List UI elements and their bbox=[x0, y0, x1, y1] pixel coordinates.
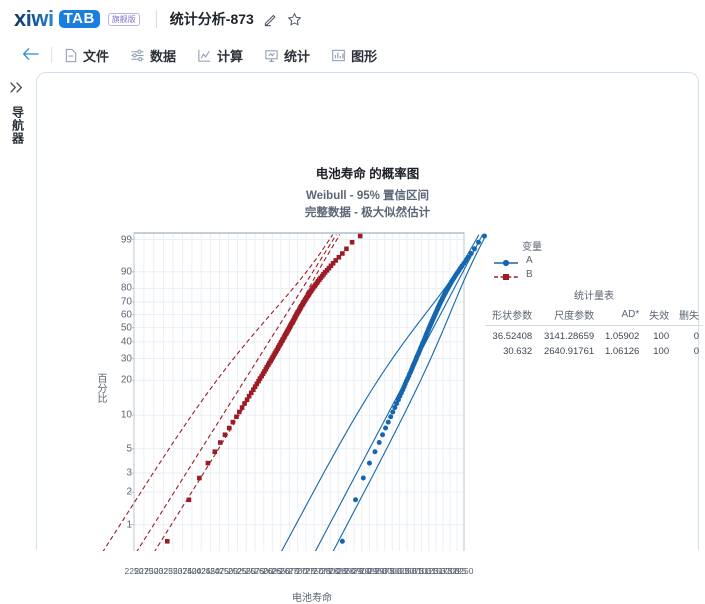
table-column-header: AD* bbox=[598, 306, 643, 326]
probability-plot: 电池寿命 的概率图 Weibull - 95% 置信区间 完整数据 - 极大似然… bbox=[37, 73, 698, 550]
legend-entry-b: B bbox=[492, 267, 542, 281]
menu-item-label: 数据 bbox=[150, 46, 176, 65]
menu-item-statistics[interactable]: 统计 bbox=[264, 46, 310, 65]
chevron-double-right-icon[interactable] bbox=[8, 80, 26, 98]
menu-item-label: 统计 bbox=[284, 46, 310, 65]
table-column-header: 删失 bbox=[673, 306, 703, 326]
statistics-table-block: 统计量表 形状参数尺度参数AD*失效删失 36.524083141.286591… bbox=[485, 287, 705, 359]
logo-tab-badge: TAB bbox=[59, 10, 100, 28]
data-sliders-icon bbox=[130, 48, 145, 63]
menu-item-calculate[interactable]: 计算 bbox=[197, 46, 243, 65]
star-icon[interactable] bbox=[287, 12, 302, 27]
table-column-header: 尺度参数 bbox=[536, 306, 598, 326]
document-title: 统计分析-873 bbox=[170, 9, 254, 29]
table-row: 30.6322640.917611.061261000 bbox=[485, 344, 703, 359]
navigator-label: 导航器 bbox=[11, 106, 24, 145]
navigator-rail: 导航器 bbox=[0, 72, 34, 550]
menu-bar: 文件 数据 计算 统计 图形 bbox=[0, 38, 705, 72]
x-axis-label: 电池寿命 bbox=[157, 589, 467, 604]
file-icon bbox=[64, 48, 78, 63]
pencil-icon[interactable] bbox=[263, 12, 278, 27]
statistics-icon bbox=[264, 48, 279, 63]
app-logo[interactable]: xiwi TAB 旗舰版 bbox=[14, 6, 140, 32]
table-cell: 100 bbox=[643, 344, 673, 359]
menu-item-label: 计算 bbox=[217, 46, 243, 65]
table-column-header: 形状参数 bbox=[485, 306, 536, 326]
legend-label-b: B bbox=[526, 269, 533, 280]
table-cell: 1.05902 bbox=[598, 326, 643, 345]
app-body: 导航器 电池寿命 的概率图 Weibull - 95% 置信区间 完整数据 - … bbox=[0, 72, 705, 550]
legend-key-b bbox=[492, 269, 520, 279]
divider bbox=[51, 47, 52, 63]
legend-key-a bbox=[492, 255, 520, 265]
graph-card: 电池寿命 的概率图 Weibull - 95% 置信区间 完整数据 - 极大似然… bbox=[36, 72, 699, 550]
graph-bars-icon bbox=[331, 48, 346, 63]
canvas-area: 电池寿命 的概率图 Weibull - 95% 置信区间 完整数据 - 极大似然… bbox=[34, 72, 705, 550]
divider bbox=[156, 10, 157, 28]
calc-chart-icon bbox=[197, 48, 212, 63]
menu-item-label: 文件 bbox=[83, 46, 109, 65]
table-row: 36.524083141.286591.059021000 bbox=[485, 326, 703, 345]
legend-label-a: A bbox=[526, 255, 533, 266]
back-arrow-icon[interactable] bbox=[22, 47, 39, 64]
chart-legend: 变量 A B bbox=[492, 238, 542, 281]
menu-item-data[interactable]: 数据 bbox=[130, 46, 176, 65]
table-cell: 0 bbox=[673, 326, 703, 345]
statistics-table: 形状参数尺度参数AD*失效删失 36.524083141.286591.0590… bbox=[485, 306, 703, 359]
menu-item-graph[interactable]: 图形 bbox=[331, 46, 377, 65]
table-cell: 30.632 bbox=[485, 344, 536, 359]
top-bar: xiwi TAB 旗舰版 统计分析-873 bbox=[0, 0, 705, 38]
table-cell: 0 bbox=[673, 344, 703, 359]
logo-wordmark: xiwi bbox=[14, 6, 54, 32]
legend-title: 变量 bbox=[522, 238, 542, 253]
menu-item-label: 图形 bbox=[351, 46, 377, 65]
table-column-header: 失效 bbox=[643, 306, 673, 326]
table-cell: 36.52408 bbox=[485, 326, 536, 345]
menu-item-file[interactable]: 文件 bbox=[64, 46, 109, 65]
table-cell: 2640.91761 bbox=[536, 344, 598, 359]
table-header-row: 形状参数尺度参数AD*失效删失 bbox=[485, 306, 703, 326]
x-tick-label: 3250 bbox=[455, 566, 474, 576]
logo-edition-badge: 旗舰版 bbox=[108, 13, 140, 26]
statistics-table-title: 统计量表 bbox=[485, 287, 703, 302]
table-cell: 1.06126 bbox=[598, 344, 643, 359]
table-cell: 100 bbox=[643, 326, 673, 345]
legend-entry-a: A bbox=[492, 253, 542, 267]
table-cell: 3141.28659 bbox=[536, 326, 598, 345]
